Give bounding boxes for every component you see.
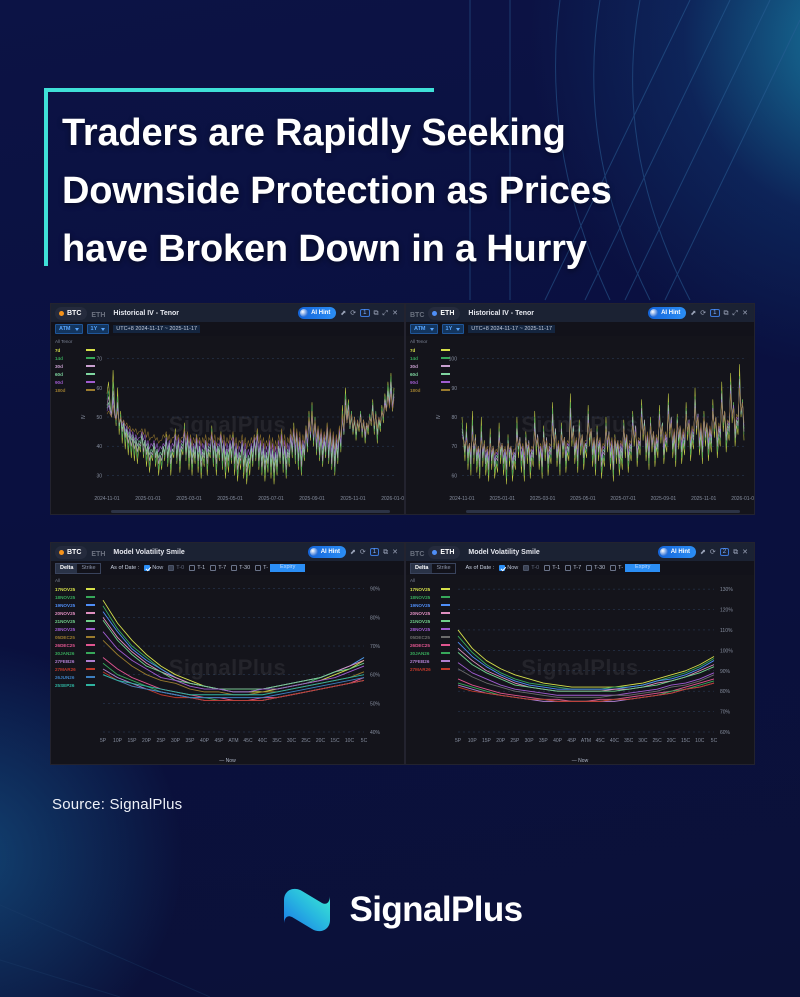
- series-line: [462, 376, 744, 478]
- ai-orb-icon: [300, 309, 308, 317]
- y-axis-tick: 40: [96, 444, 102, 450]
- panel-header: BTCETHHistorical IV - TenorAI Hint⬈⟳1⧉⤢✕: [406, 304, 754, 322]
- copy-icon[interactable]: ⧉: [724, 310, 729, 317]
- y-axis-tick: 100: [449, 357, 458, 363]
- x-axis-tick: 5P: [455, 738, 462, 744]
- y-axis-tick: 30: [96, 473, 102, 479]
- plot-area: SignalPlusAll Tenor7d14d30d60d90d180d607…: [406, 336, 754, 515]
- asset-label-eth: ETH: [440, 549, 454, 556]
- ai-hint-button[interactable]: AI Hint: [298, 307, 336, 319]
- expiry-select[interactable]: Expiry: [270, 564, 305, 572]
- ai-orb-icon: [650, 309, 658, 317]
- ai-hint-label: AI Hint: [661, 310, 680, 316]
- chevron-down-icon: [430, 328, 434, 331]
- logo-text: SignalPlus: [350, 890, 523, 930]
- chart-panel-eth-historical-iv-tenor: BTCETHHistorical IV - TenorAI Hint⬈⟳1⧉⤢✕…: [405, 303, 755, 515]
- checkbox-t7[interactable]: T-7: [210, 565, 226, 571]
- x-axis-tick: 25P: [157, 738, 167, 744]
- panel-header: BTCETHModel Volatility SmileAI Hint⬈⟳1⧉✕: [51, 543, 404, 561]
- x-axis-tick: 5C: [711, 738, 718, 744]
- refresh-icon[interactable]: ⟳: [710, 549, 716, 556]
- x-axis-tick: 2025-03-01: [176, 496, 202, 502]
- ai-orb-icon: [310, 548, 318, 556]
- moneyness-value: ATM: [59, 326, 71, 332]
- asset-tab-eth[interactable]: ETH: [428, 546, 460, 559]
- asset-label-eth: ETH: [91, 312, 105, 319]
- x-axis-tick: 45C: [596, 738, 606, 744]
- external-link-icon[interactable]: ⬈: [350, 549, 356, 556]
- y-axis-tick: 80%: [720, 689, 731, 695]
- checkbox-label: T-7: [573, 565, 581, 571]
- checkbox-now[interactable]: Now: [144, 565, 163, 571]
- x-axis-tick: 10P: [468, 738, 478, 744]
- x-axis-tick: 2024-11-01: [449, 496, 474, 502]
- series-line: [458, 630, 714, 687]
- x-axis-tick: 2024-11-01: [94, 496, 119, 502]
- y-axis-tick: 80%: [370, 615, 381, 621]
- x-axis-tick: 25C: [301, 738, 311, 744]
- checkbox-box[interactable]: [255, 565, 261, 571]
- x-axis-tick: 2025-11-01: [340, 496, 365, 502]
- x-axis-tick: 35P: [539, 738, 549, 744]
- external-link-icon[interactable]: ⬈: [340, 310, 346, 317]
- period-value: 1Y: [446, 326, 453, 332]
- as-of-date-group: As of Date :NowT-0T-1T-7T-30T-Expiry: [111, 564, 306, 572]
- as-of-date-label: As of Date :: [111, 565, 140, 571]
- checkbox-t[interactable]: T-Expiry: [610, 564, 660, 572]
- x-axis-tick: 45C: [243, 738, 253, 744]
- y-axis-tick: 60%: [720, 730, 731, 736]
- panel-header: BTCETHModel Volatility SmileAI Hint⬈⟳2⧉✕: [406, 543, 754, 561]
- x-axis-tick: 2025-03-01: [530, 496, 556, 502]
- chart-svg: 60708090100IV2024-11-012025-01-012025-03…: [406, 336, 755, 515]
- asset-tab-eth[interactable]: ETH: [428, 307, 460, 320]
- x-axis-tick: ATM: [581, 738, 591, 744]
- asset-label-btc: BTC: [67, 310, 81, 317]
- page-badge[interactable]: 1: [710, 309, 719, 317]
- asset-tab-btc[interactable]: BTC: [410, 543, 424, 561]
- checkbox-t30[interactable]: T-30: [231, 565, 250, 571]
- checkbox-box[interactable]: [499, 565, 505, 571]
- y-axis-tick: 130%: [720, 587, 733, 593]
- x-axis-tick: 15C: [681, 738, 691, 744]
- brand-logo: SignalPlus: [0, 884, 800, 936]
- checkbox-box[interactable]: [189, 565, 195, 571]
- chevron-down-icon: [456, 328, 460, 331]
- checkbox-t7[interactable]: T-7: [565, 565, 581, 571]
- toggle-delta[interactable]: Delta: [411, 564, 432, 573]
- panel-toolbar: ATM1YUTC+8 2024-11-17 ~ 2025-11-17: [406, 322, 754, 336]
- x-axis-tick: 20P: [496, 738, 506, 744]
- ai-hint-label: AI Hint: [671, 549, 690, 555]
- period-value: 1Y: [91, 326, 98, 332]
- asset-tab-btc[interactable]: BTC: [55, 307, 87, 320]
- ai-orb-icon: [660, 548, 668, 556]
- plot-area: SignalPlusAll Tenor7d14d30d60d90d180d304…: [51, 336, 404, 515]
- ai-hint-label: AI Hint: [311, 310, 330, 316]
- asset-label-eth: ETH: [91, 551, 105, 558]
- x-axis-tick: 40P: [200, 738, 210, 744]
- y-axis-tick: 70: [451, 444, 457, 450]
- external-link-icon[interactable]: ⬈: [690, 310, 696, 317]
- chart-panel-eth-model-volatility-smile: BTCETHModel Volatility SmileAI Hint⬈⟳2⧉✕…: [405, 542, 755, 765]
- btc-dot-icon: [59, 550, 64, 555]
- panel-header-actions: AI Hint⬈⟳2⧉✕: [658, 546, 750, 558]
- now-marker-label: — Now: [51, 758, 404, 764]
- x-axis-tick: 30C: [638, 738, 648, 744]
- chart-panel-btc-model-volatility-smile: BTCETHModel Volatility SmileAI Hint⬈⟳1⧉✕…: [50, 542, 405, 765]
- x-axis-tick: 2025-07-01: [258, 496, 284, 502]
- eth-dot-icon: [432, 311, 437, 316]
- close-icon[interactable]: ✕: [392, 549, 398, 556]
- x-axis-tick: 10P: [113, 738, 123, 744]
- period-select[interactable]: 1Y: [87, 324, 110, 334]
- external-link-icon[interactable]: ⬈: [700, 549, 706, 556]
- headline-block: Traders are Rapidly Seeking Downside Pro…: [44, 88, 724, 278]
- x-axis-tick: 2025-09-01: [299, 496, 325, 502]
- checkbox-label: T-: [618, 565, 623, 571]
- y-axis-tick: 70%: [370, 644, 381, 650]
- x-axis-tick: 15C: [330, 738, 340, 744]
- panel-header-actions: AI Hint⬈⟳1⧉⤢✕: [298, 307, 400, 319]
- x-axis-tick: 40P: [553, 738, 563, 744]
- ai-hint-button[interactable]: AI Hint: [648, 307, 686, 319]
- panel-title: Historical IV - Tenor: [113, 310, 179, 317]
- asset-label-btc: BTC: [67, 549, 81, 556]
- chart-panel-btc-historical-iv-tenor: BTCETHHistorical IV - TenorAI Hint⬈⟳1⧉⤢✕…: [50, 303, 405, 515]
- x-axis-tick: 10C: [695, 738, 705, 744]
- page-badge[interactable]: 1: [360, 309, 369, 317]
- y-axis-tick: 100%: [720, 648, 733, 654]
- moneyness-select[interactable]: ATM: [410, 324, 438, 334]
- asset-tab-eth[interactable]: ETH: [91, 543, 105, 561]
- as-of-date-label: As of Date :: [466, 565, 495, 571]
- panel-title: Model Volatility Smile: [468, 549, 539, 556]
- y-axis-tick: 90%: [370, 587, 381, 593]
- asset-label-eth: ETH: [440, 310, 454, 317]
- eth-dot-icon: [432, 550, 437, 555]
- checkbox-label: T-7: [218, 565, 226, 571]
- panel-toolbar: DeltaStrikeAs of Date :NowT-0T-1T-7T-30T…: [406, 561, 754, 575]
- headline-line-2: Downside Protection as Prices: [62, 162, 724, 220]
- refresh-icon[interactable]: ⟳: [700, 310, 706, 317]
- checkbox-box[interactable]: [168, 565, 174, 571]
- checkbox-label: T-30: [594, 565, 605, 571]
- ai-hint-button[interactable]: AI Hint: [658, 546, 696, 558]
- y-axis-tick: 50: [96, 415, 102, 421]
- refresh-icon[interactable]: ⟳: [350, 310, 356, 317]
- x-axis-tick: 20C: [667, 738, 677, 744]
- date-range-value[interactable]: UTC+8 2024-11-17 ~ 2025-11-17: [468, 325, 555, 333]
- checkbox-box[interactable]: [586, 565, 592, 571]
- moneyness-value: ATM: [414, 326, 426, 332]
- y-axis-tick: 70: [96, 357, 102, 363]
- panel-header: BTCETHHistorical IV - TenorAI Hint⬈⟳1⧉⤢✕: [51, 304, 404, 322]
- checkbox-box[interactable]: [210, 565, 216, 571]
- close-icon[interactable]: ✕: [742, 310, 748, 317]
- y-axis-tick: 60: [451, 473, 457, 479]
- page-badge[interactable]: 2: [720, 548, 729, 556]
- x-axis-tick: 20C: [316, 738, 326, 744]
- series-line: [103, 640, 364, 694]
- x-axis-tick: 35P: [186, 738, 196, 744]
- checkbox-box[interactable]: [144, 565, 150, 571]
- checkbox-box[interactable]: [610, 565, 616, 571]
- y-axis-tick: 90%: [720, 669, 731, 675]
- checkbox-label: T-30: [239, 565, 250, 571]
- delta-strike-toggle[interactable]: DeltaStrike: [55, 563, 101, 574]
- checkbox-label: T-: [263, 565, 268, 571]
- plot-area: SignalPlusAll17NOV2518NOV2519NOV2520NOV2…: [406, 575, 754, 765]
- btc-dot-icon: [59, 311, 64, 316]
- x-axis-tick: 15P: [482, 738, 492, 744]
- checkbox-t0[interactable]: T-0: [168, 565, 184, 571]
- x-axis-tick: 2025-05-01: [217, 496, 243, 502]
- y-axis-tick: 60%: [370, 673, 381, 679]
- checkbox-label: T-0: [176, 565, 184, 571]
- moneyness-select[interactable]: ATM: [55, 324, 83, 334]
- source-caption: Source: SignalPlus: [52, 796, 182, 813]
- panel-title: Model Volatility Smile: [113, 549, 184, 556]
- x-axis-tick: 15P: [128, 738, 138, 744]
- checkbox-label: Now: [507, 565, 518, 571]
- x-axis-tick: 30P: [171, 738, 181, 744]
- checkbox-t1[interactable]: T-1: [189, 565, 205, 571]
- accent-bar-top: [44, 88, 434, 92]
- x-axis-tick: 35C: [624, 738, 634, 744]
- asset-label-btc: BTC: [410, 312, 424, 319]
- x-axis-tick: 2025-01-01: [135, 496, 161, 502]
- date-range-value[interactable]: UTC+8 2024-11-17 ~ 2025-11-17: [113, 325, 200, 333]
- headline-line-1: Traders are Rapidly Seeking: [62, 104, 724, 162]
- y-axis-tick: 90: [451, 386, 457, 392]
- asset-tab-eth[interactable]: ETH: [91, 304, 105, 322]
- expiry-select[interactable]: Expiry: [625, 564, 660, 572]
- x-axis-tick: 45P: [567, 738, 577, 744]
- chart-scrollbar[interactable]: [111, 510, 390, 513]
- y-axis-tick: 70%: [720, 710, 731, 716]
- checkbox-label: Now: [152, 565, 163, 571]
- ai-hint-label: AI Hint: [321, 549, 340, 555]
- poster-root: Traders are Rapidly Seeking Downside Pro…: [0, 0, 800, 997]
- y-axis-tick: 110%: [720, 628, 733, 634]
- page-title: Traders are Rapidly Seeking Downside Pro…: [44, 88, 724, 278]
- panel-header-actions: AI Hint⬈⟳1⧉✕: [308, 546, 400, 558]
- y-axis-tick: 50%: [370, 701, 381, 707]
- x-axis-tick: 2026-01-01: [731, 496, 755, 502]
- y-axis-title: IV: [436, 414, 442, 419]
- checkbox-box[interactable]: [565, 565, 571, 571]
- panel-toolbar: DeltaStrikeAs of Date :NowT-0T-1T-7T-30T…: [51, 561, 404, 575]
- asset-tab-btc[interactable]: BTC: [410, 304, 424, 322]
- x-axis-tick: 2025-11-01: [691, 496, 716, 502]
- y-axis-tick: 60: [96, 386, 102, 392]
- toggle-strike[interactable]: Strike: [77, 564, 99, 573]
- checkbox-box[interactable]: [231, 565, 237, 571]
- checkbox-box[interactable]: [544, 565, 550, 571]
- series-line: [107, 391, 394, 461]
- copy-icon[interactable]: ⧉: [374, 310, 379, 317]
- x-axis-tick: 10C: [345, 738, 355, 744]
- y-axis-tick: 120%: [720, 608, 733, 614]
- chart-svg: 60%70%80%90%100%110%120%130%5P10P15P20P2…: [406, 575, 755, 765]
- toggle-delta[interactable]: Delta: [56, 564, 77, 573]
- panel-header-actions: AI Hint⬈⟳1⧉⤢✕: [648, 307, 750, 319]
- x-axis-tick: ATM: [228, 738, 238, 744]
- refresh-icon[interactable]: ⟳: [360, 549, 366, 556]
- x-axis-tick: 25P: [510, 738, 520, 744]
- asset-tab-btc[interactable]: BTC: [55, 546, 87, 559]
- period-select[interactable]: 1Y: [442, 324, 465, 334]
- x-axis-tick: 5C: [361, 738, 368, 744]
- x-axis-tick: 5P: [100, 738, 107, 744]
- series-line: [107, 370, 394, 484]
- as-of-date-group: As of Date :NowT-0T-1T-7T-30T-Expiry: [466, 564, 661, 572]
- series-line: [107, 388, 394, 467]
- x-axis-tick: 35C: [272, 738, 282, 744]
- chevron-down-icon: [101, 328, 105, 331]
- series-line: [103, 675, 364, 698]
- now-marker-label: — Now: [406, 758, 754, 764]
- expand-icon[interactable]: ⤢: [383, 310, 389, 317]
- copy-icon[interactable]: ⧉: [383, 549, 388, 556]
- checkbox-t1[interactable]: T-1: [544, 565, 560, 571]
- checkbox-now[interactable]: Now: [499, 565, 518, 571]
- x-axis-tick: 40C: [258, 738, 268, 744]
- x-axis-tick: 30C: [287, 738, 297, 744]
- x-axis-tick: 20P: [142, 738, 152, 744]
- chart-svg: 3040506070IV2024-11-012025-01-012025-03-…: [51, 336, 405, 515]
- x-axis-tick: 40C: [610, 738, 620, 744]
- chart-svg: 40%50%60%70%80%90%5P10P15P20P25P30P35P40…: [51, 575, 405, 765]
- x-axis-tick: 25C: [653, 738, 663, 744]
- signalplus-mark-icon: [278, 884, 336, 936]
- headline-line-3: have Broken Down in a Hurry: [62, 220, 724, 278]
- close-icon[interactable]: ✕: [742, 549, 748, 556]
- x-axis-tick: 2025-01-01: [489, 496, 515, 502]
- x-axis-tick: 2026-01-01: [381, 496, 405, 502]
- series-line: [458, 642, 714, 689]
- y-axis-tick: 40%: [370, 730, 381, 736]
- panel-title: Historical IV - Tenor: [468, 310, 534, 317]
- accent-bar-left: [44, 88, 48, 266]
- x-axis-tick: 30P: [525, 738, 535, 744]
- plot-area: SignalPlusAll17NOV2518NOV2519NOV2520NOV2…: [51, 575, 404, 765]
- toggle-strike[interactable]: Strike: [432, 564, 454, 573]
- page-badge[interactable]: 1: [370, 548, 379, 556]
- series-line: [458, 636, 714, 689]
- checkbox-box[interactable]: [523, 565, 529, 571]
- chart-scrollbar[interactable]: [466, 510, 740, 513]
- asset-label-btc: BTC: [410, 551, 424, 558]
- copy-icon[interactable]: ⧉: [733, 549, 738, 556]
- y-axis-title: IV: [81, 414, 87, 419]
- close-icon[interactable]: ✕: [392, 310, 398, 317]
- panel-toolbar: ATM1YUTC+8 2024-11-17 ~ 2025-11-17: [51, 322, 404, 336]
- series-line: [458, 652, 714, 691]
- x-axis-tick: 2025-07-01: [610, 496, 636, 502]
- expand-icon[interactable]: ⤢: [733, 310, 739, 317]
- checkbox-t30[interactable]: T-30: [586, 565, 605, 571]
- x-axis-tick: 45P: [215, 738, 225, 744]
- checkbox-t[interactable]: T-Expiry: [255, 564, 305, 572]
- delta-strike-toggle[interactable]: DeltaStrike: [410, 563, 456, 574]
- checkbox-label: T-1: [552, 565, 560, 571]
- chevron-down-icon: [75, 328, 79, 331]
- checkbox-label: T-1: [197, 565, 205, 571]
- x-axis-tick: 2025-09-01: [651, 496, 677, 502]
- checkbox-label: T-0: [531, 565, 539, 571]
- checkbox-t0[interactable]: T-0: [523, 565, 539, 571]
- y-axis-tick: 80: [451, 415, 457, 421]
- x-axis-tick: 2025-05-01: [570, 496, 596, 502]
- ai-hint-button[interactable]: AI Hint: [308, 546, 346, 558]
- series-line: [462, 364, 744, 484]
